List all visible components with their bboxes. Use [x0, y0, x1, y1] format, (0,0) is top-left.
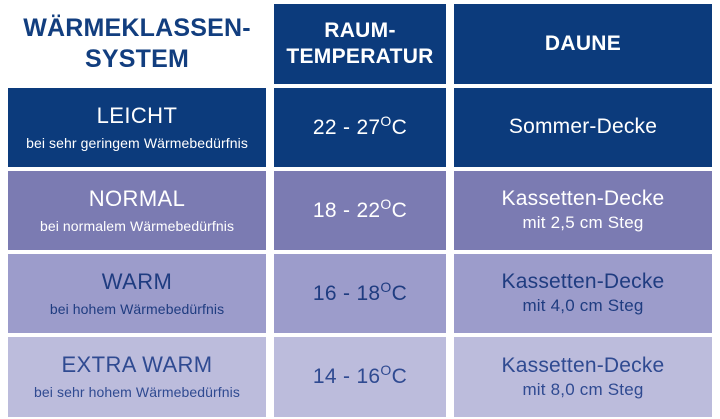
- class-name-extra-warm: EXTRA WARM: [61, 352, 212, 378]
- temperature-value-warm: 16 - 18OC: [313, 282, 407, 306]
- cell-daune-leicht: Sommer-Decke: [454, 88, 712, 167]
- table-header-row: WÄRMEKLASSEN- SYSTEM RAUM- TEMPERATUR DA…: [4, 2, 716, 86]
- temperature-unit-warm: C: [392, 282, 407, 305]
- class-name-normal: NORMAL: [89, 186, 186, 212]
- cell-daune-warm: Kassetten-Decke mit 4,0 cm Steg: [454, 254, 712, 333]
- table-row: LEICHT bei sehr geringem Wärmebedürfnis …: [4, 86, 716, 169]
- class-note-normal: bei normalem Wärmebedürfnis: [40, 218, 234, 236]
- class-note-extra-warm: bei sehr hohem Wärmebedürfnis: [34, 384, 240, 402]
- temperature-value-leicht: 22 - 27OC: [313, 116, 407, 140]
- temperature-range-warm: 16 - 18: [313, 282, 380, 305]
- cell-temperature-extra-warm: 14 - 16OC: [274, 337, 446, 417]
- daune-main-normal: Kassetten-Decke: [502, 187, 665, 212]
- degree-icon: O: [380, 196, 391, 212]
- daune-sub-normal: mit 2,5 cm Steg: [522, 213, 643, 233]
- daune-sub-extra-warm: mit 8,0 cm Steg: [522, 380, 643, 400]
- daune-main-leicht: Sommer-Decke: [509, 115, 657, 140]
- daune-main-extra-warm: Kassetten-Decke: [502, 354, 665, 379]
- cell-class-extra-warm: EXTRA WARM bei sehr hohem Wärmebedürfnis: [8, 337, 266, 417]
- class-note-leicht: bei sehr geringem Wärmebedürfnis: [26, 135, 248, 153]
- table-row: NORMAL bei normalem Wärmebedürfnis 18 - …: [4, 169, 716, 252]
- daune-sub-warm: mit 4,0 cm Steg: [522, 296, 643, 316]
- class-name-warm: WARM: [102, 269, 172, 295]
- cell-class-warm: WARM bei hohem Wärmebedürfnis: [8, 254, 266, 333]
- header-label-daune: DAUNE: [545, 31, 621, 57]
- class-name-leicht: LEICHT: [97, 103, 178, 129]
- table-row: EXTRA WARM bei sehr hohem Wärmebedürfnis…: [4, 335, 716, 419]
- header-label-temperature-line-1: RAUM-: [286, 18, 433, 44]
- cell-temperature-warm: 16 - 18OC: [274, 254, 446, 333]
- header-cell-temperature: RAUM- TEMPERATUR: [274, 4, 446, 84]
- temperature-unit-leicht: C: [392, 116, 407, 139]
- header-cell-daune: DAUNE: [454, 4, 712, 84]
- temperature-value-extra-warm: 14 - 16OC: [313, 365, 407, 389]
- degree-icon: O: [380, 113, 391, 129]
- degree-icon: O: [380, 362, 391, 378]
- daune-main-warm: Kassetten-Decke: [502, 270, 665, 295]
- temperature-range-extra-warm: 14 - 16: [313, 365, 380, 388]
- warmth-class-table: WÄRMEKLASSEN- SYSTEM RAUM- TEMPERATUR DA…: [0, 0, 720, 418]
- cell-class-normal: NORMAL bei normalem Wärmebedürfnis: [8, 171, 266, 250]
- page-title-line-1: WÄRMEKLASSEN-: [23, 13, 251, 44]
- header-label-temperature: RAUM- TEMPERATUR: [286, 18, 433, 69]
- cell-temperature-leicht: 22 - 27OC: [274, 88, 446, 167]
- cell-temperature-normal: 18 - 22OC: [274, 171, 446, 250]
- temperature-range-leicht: 22 - 27: [313, 116, 380, 139]
- degree-icon: O: [380, 279, 391, 295]
- temperature-value-normal: 18 - 22OC: [313, 199, 407, 223]
- class-note-warm: bei hohem Wärmebedürfnis: [50, 301, 224, 319]
- header-cell-class: WÄRMEKLASSEN- SYSTEM: [8, 4, 266, 84]
- temperature-unit-extra-warm: C: [392, 365, 407, 388]
- cell-class-leicht: LEICHT bei sehr geringem Wärmebedürfnis: [8, 88, 266, 167]
- page-title-line-2: SYSTEM: [23, 44, 251, 75]
- header-label-temperature-line-2: TEMPERATUR: [286, 44, 433, 70]
- cell-daune-extra-warm: Kassetten-Decke mit 8,0 cm Steg: [454, 337, 712, 417]
- table-row: WARM bei hohem Wärmebedürfnis 16 - 18OC …: [4, 252, 716, 335]
- temperature-range-normal: 18 - 22: [313, 199, 380, 222]
- page-title: WÄRMEKLASSEN- SYSTEM: [23, 13, 251, 75]
- temperature-unit-normal: C: [392, 199, 407, 222]
- cell-daune-normal: Kassetten-Decke mit 2,5 cm Steg: [454, 171, 712, 250]
